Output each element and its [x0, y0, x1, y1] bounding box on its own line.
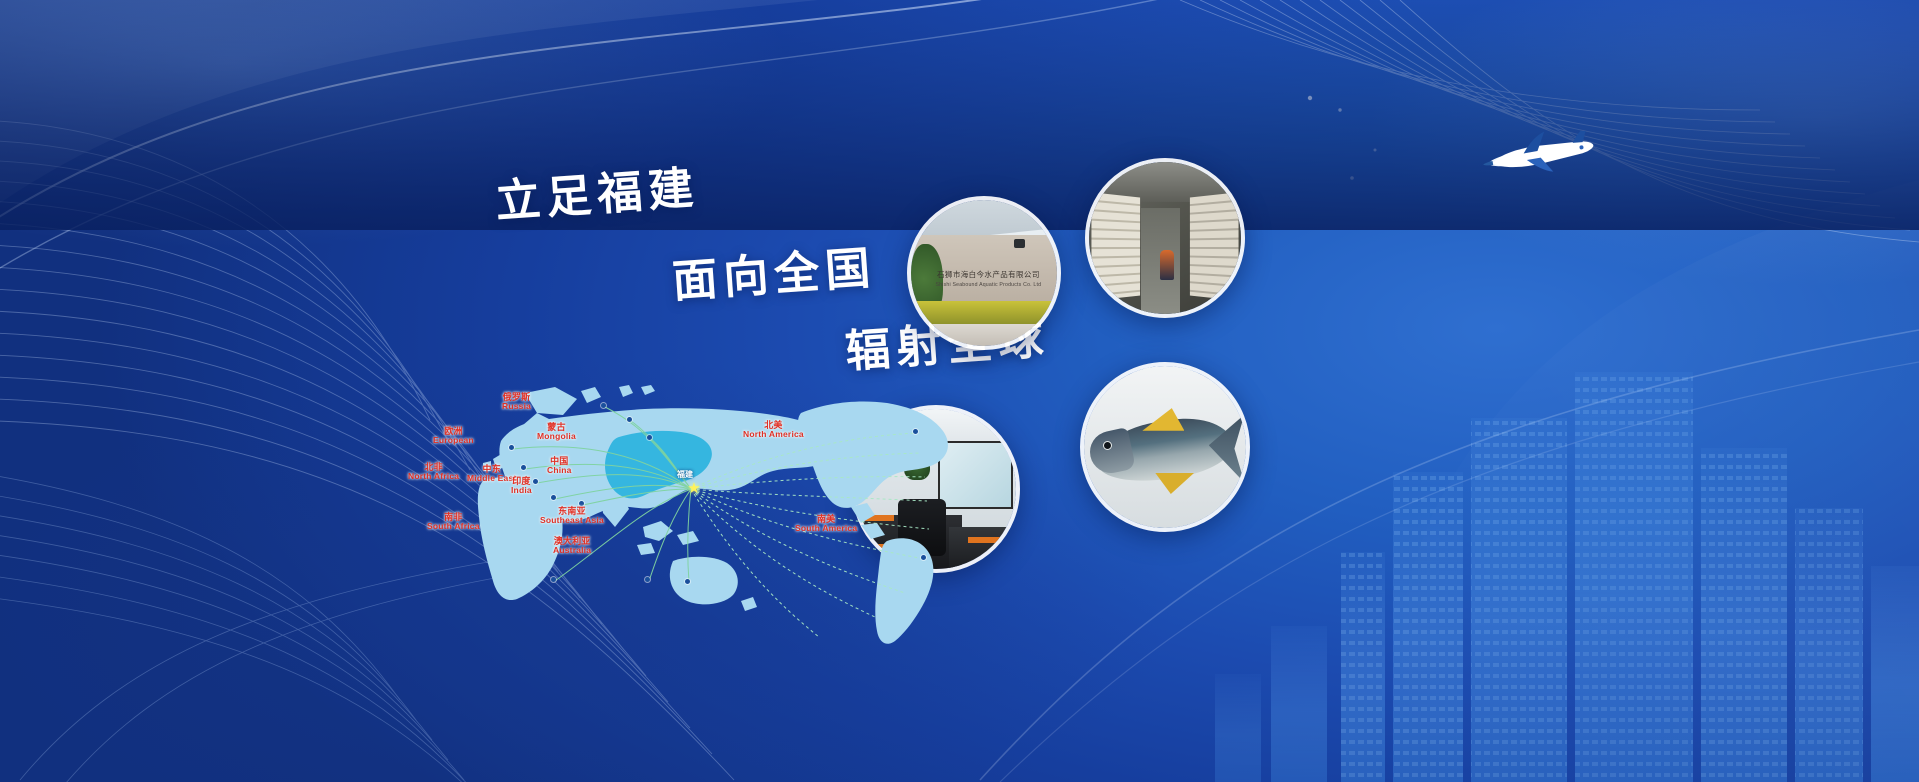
map-label-en: South Africa	[427, 522, 480, 531]
map-node	[685, 579, 690, 584]
world-trade-map: ★ 福建 俄罗斯Russia蒙古Mongolia中国China欧洲Europea…	[405, 385, 1005, 675]
factory-sign-cn: 石狮市海白今水产品有限公司	[920, 269, 1057, 280]
map-label-european: 欧洲European	[433, 427, 474, 445]
map-label-middle-east: 中东Middle East	[467, 465, 516, 483]
airplane-icon	[1478, 131, 1598, 177]
map-label-en: India	[511, 486, 532, 495]
bottom-vignette	[0, 0, 1919, 230]
photo-factory-entrance: 石狮市海白今水产品有限公司 Shishi Seabound Aquatic Pr…	[907, 196, 1061, 350]
map-label-en: European	[433, 436, 474, 445]
map-label-mongolia: 蒙古Mongolia	[537, 423, 576, 441]
map-label-southeast-asia: 东南亚Southeast Asia	[540, 507, 604, 525]
map-node	[647, 435, 652, 440]
map-label-en: North America	[743, 430, 804, 439]
photo-cold-storage	[1085, 158, 1245, 318]
map-label-south-africa: 南非South Africa	[427, 513, 480, 531]
map-label-north-america: 北美North America	[743, 421, 804, 439]
map-node	[551, 495, 556, 500]
map-node	[601, 403, 606, 408]
map-node	[533, 479, 538, 484]
hero-banner: 立足福建 面向全国 辐射全球 石狮市海白今水产品有限公司 Shishi Seab…	[0, 0, 1919, 782]
map-label-en: Southeast Asia	[540, 516, 604, 525]
photo-tuna	[1080, 362, 1250, 532]
map-node	[627, 417, 632, 422]
map-label-north-africa: 北非North Africa	[408, 463, 459, 481]
factory-sign-en: Shishi Seabound Aquatic Products Co. Ltd	[917, 282, 1060, 288]
map-label-en: North Africa	[408, 472, 459, 481]
map-node	[913, 429, 918, 434]
map-node	[509, 445, 514, 450]
map-label-en: Middle East	[467, 474, 516, 483]
map-node	[645, 577, 650, 582]
map-node	[921, 555, 926, 560]
origin-marker-star: ★	[686, 481, 702, 497]
map-node	[521, 465, 526, 470]
map-label-en: China	[547, 466, 572, 475]
map-label-en: South America	[795, 524, 857, 533]
map-label-en: Russia	[502, 402, 531, 411]
map-label-en: Mongolia	[537, 432, 576, 441]
map-node	[551, 577, 556, 582]
origin-label: 福建	[677, 469, 693, 480]
headline-line-2: 面向全国	[670, 231, 878, 310]
map-label-south-america: 南美South America	[795, 515, 857, 533]
city-skyline	[1159, 222, 1919, 782]
map-label-australia: 澳大利亚Australia	[553, 537, 591, 555]
headline-line-1: 立足福建	[493, 151, 701, 230]
map-label-en: Australia	[553, 546, 591, 555]
map-label-china: 中国China	[547, 457, 572, 475]
map-label-russia: 俄罗斯Russia	[502, 393, 531, 411]
map-label-india: 印度India	[511, 477, 532, 495]
